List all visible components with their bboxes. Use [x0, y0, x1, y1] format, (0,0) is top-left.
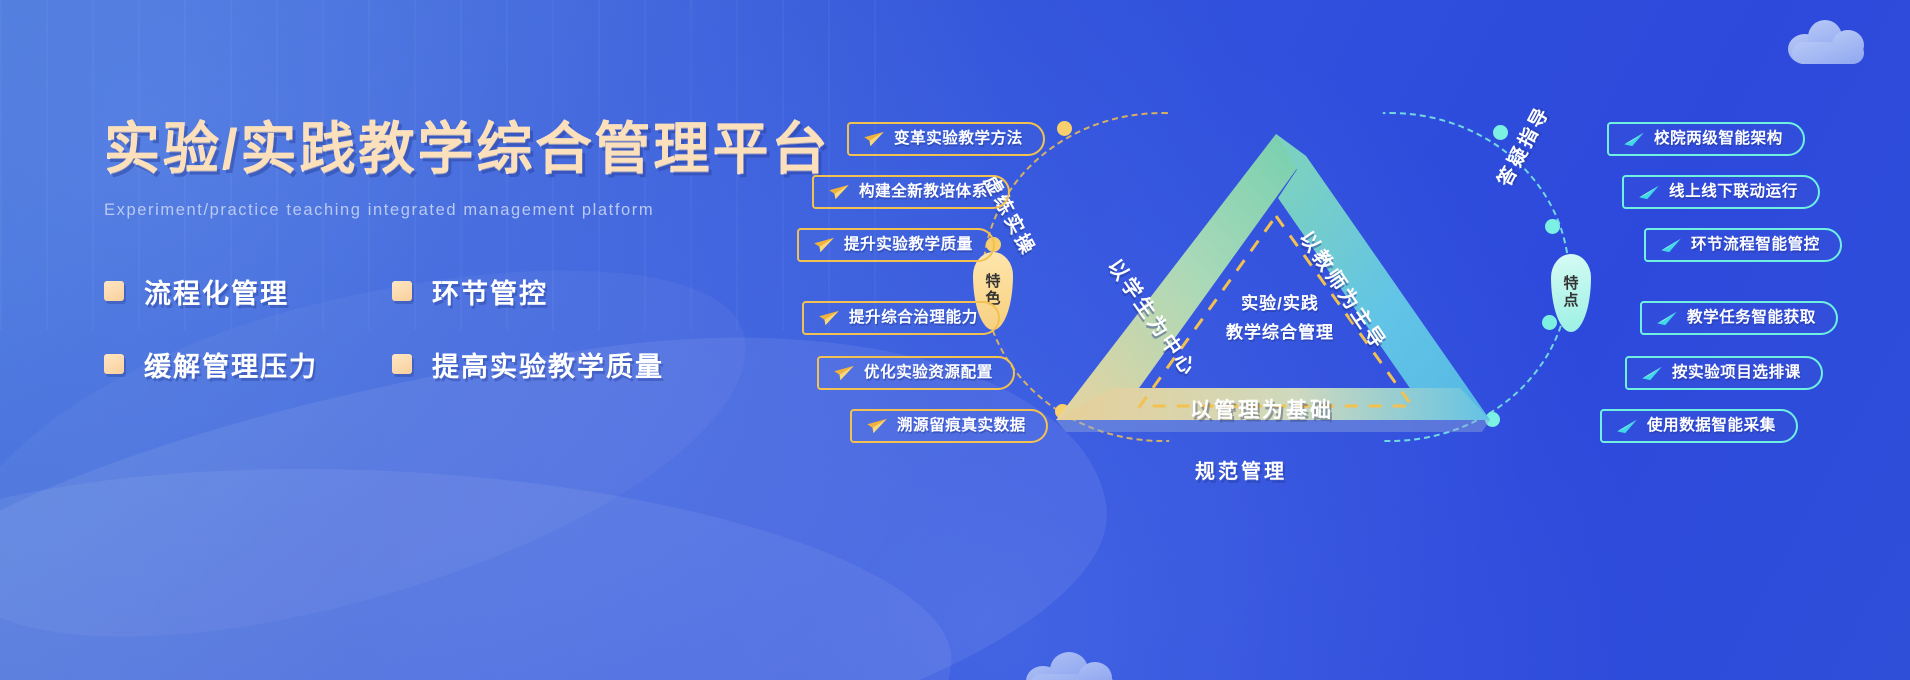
badge-line-1: 特	[985, 274, 1000, 291]
feature-item: 流程化管理	[104, 272, 384, 311]
feature-item: 提高实验教学质量	[392, 345, 672, 384]
paper-plane-icon	[866, 418, 888, 434]
tag-right-4[interactable]: 教学任务智能获取	[1640, 301, 1838, 335]
paper-plane-icon	[863, 131, 885, 147]
tag-label: 溯源留痕真实数据	[897, 418, 1026, 434]
tag-label: 使用数据智能采集	[1647, 418, 1776, 434]
tag-label: 变革实验教学方法	[894, 131, 1023, 147]
tag-label: 优化实验资源配置	[864, 365, 993, 381]
tag-left-1[interactable]: 变革实验教学方法	[847, 122, 1045, 156]
tag-label: 构建全新教培体系	[859, 184, 988, 200]
badge-line-2: 点	[1563, 293, 1578, 310]
core-line-2: 教学综合管理	[1180, 319, 1380, 348]
tag-label: 按实验项目选排课	[1672, 365, 1801, 381]
tag-label: 提升综合治理能力	[849, 310, 978, 326]
paper-plane-icon	[1656, 310, 1678, 326]
paper-plane-icon	[1616, 418, 1638, 434]
paper-plane-icon	[1660, 237, 1682, 253]
bullet-square-icon	[392, 354, 412, 374]
bullet-square-icon	[104, 354, 124, 374]
tag-label: 线上线下联动运行	[1669, 184, 1798, 200]
feature-label: 环节管控	[432, 272, 548, 311]
paper-plane-icon	[828, 184, 850, 200]
feature-list: 流程化管理 环节管控 缓解管理压力 提高实验教学质量	[104, 272, 844, 384]
orbit-dot	[1542, 315, 1557, 330]
bullet-square-icon	[104, 281, 124, 301]
feature-item: 缓解管理压力	[104, 345, 384, 384]
background-wave-2	[0, 430, 962, 680]
triangle-graphic: 以学生为中心 以教师为主导 以管理为基础 实验/实践 教学综合管理	[1020, 120, 1540, 440]
paper-plane-icon	[813, 237, 835, 253]
tag-label: 教学任务智能获取	[1687, 310, 1816, 326]
tag-left-3[interactable]: 提升实验教学质量	[797, 228, 995, 262]
tag-left-4[interactable]: 提升综合治理能力	[802, 301, 1000, 335]
tag-label: 校院两级智能架构	[1654, 131, 1783, 147]
paper-plane-icon	[818, 310, 840, 326]
tag-label: 提升实验教学质量	[844, 237, 973, 253]
triangle-svg	[1020, 120, 1540, 440]
tag-right-5[interactable]: 按实验项目选排课	[1625, 356, 1823, 390]
page-title: 实验/实践教学综合管理平台	[104, 118, 844, 181]
badge-line-1: 特	[1563, 276, 1578, 293]
tag-label: 环节流程智能管控	[1691, 237, 1820, 253]
feature-label: 流程化管理	[144, 272, 289, 311]
paper-plane-icon	[1623, 131, 1645, 147]
paper-plane-icon	[1638, 184, 1660, 200]
core-line-1: 实验/实践	[1180, 290, 1380, 319]
paper-plane-icon	[1641, 365, 1663, 381]
hero-banner: 实验/实践教学综合管理平台 Experiment/practice teachi…	[0, 0, 1910, 680]
triangle-core-text: 实验/实践 教学综合管理	[1180, 290, 1380, 348]
tag-left-6[interactable]: 溯源留痕真实数据	[850, 409, 1048, 443]
feature-label: 缓解管理压力	[144, 345, 318, 384]
feature-label: 提高实验教学质量	[432, 345, 664, 384]
paper-plane-icon	[833, 365, 855, 381]
tag-right-6[interactable]: 使用数据智能采集	[1600, 409, 1798, 443]
tag-right-2[interactable]: 线上线下联动运行	[1622, 175, 1820, 209]
tag-left-2[interactable]: 构建全新教培体系	[812, 175, 1010, 209]
page-subtitle: Experiment/practice teaching integrated …	[104, 201, 844, 220]
feature-item: 环节管控	[392, 272, 672, 311]
orbit-dot	[1545, 219, 1560, 234]
concept-diagram: 特 色 特 点 虚练实操 答疑指导	[960, 0, 1910, 680]
hero-text-block: 实验/实践教学综合管理平台 Experiment/practice teachi…	[104, 118, 844, 384]
tag-right-3[interactable]: 环节流程智能管控	[1644, 228, 1842, 262]
tag-left-5[interactable]: 优化实验资源配置	[817, 356, 1015, 390]
bullet-square-icon	[392, 281, 412, 301]
edge-label-base: 以管理为基础	[1190, 394, 1334, 424]
diagram-bottom-label: 规范管理	[1195, 455, 1287, 484]
tag-right-1[interactable]: 校院两级智能架构	[1607, 122, 1805, 156]
